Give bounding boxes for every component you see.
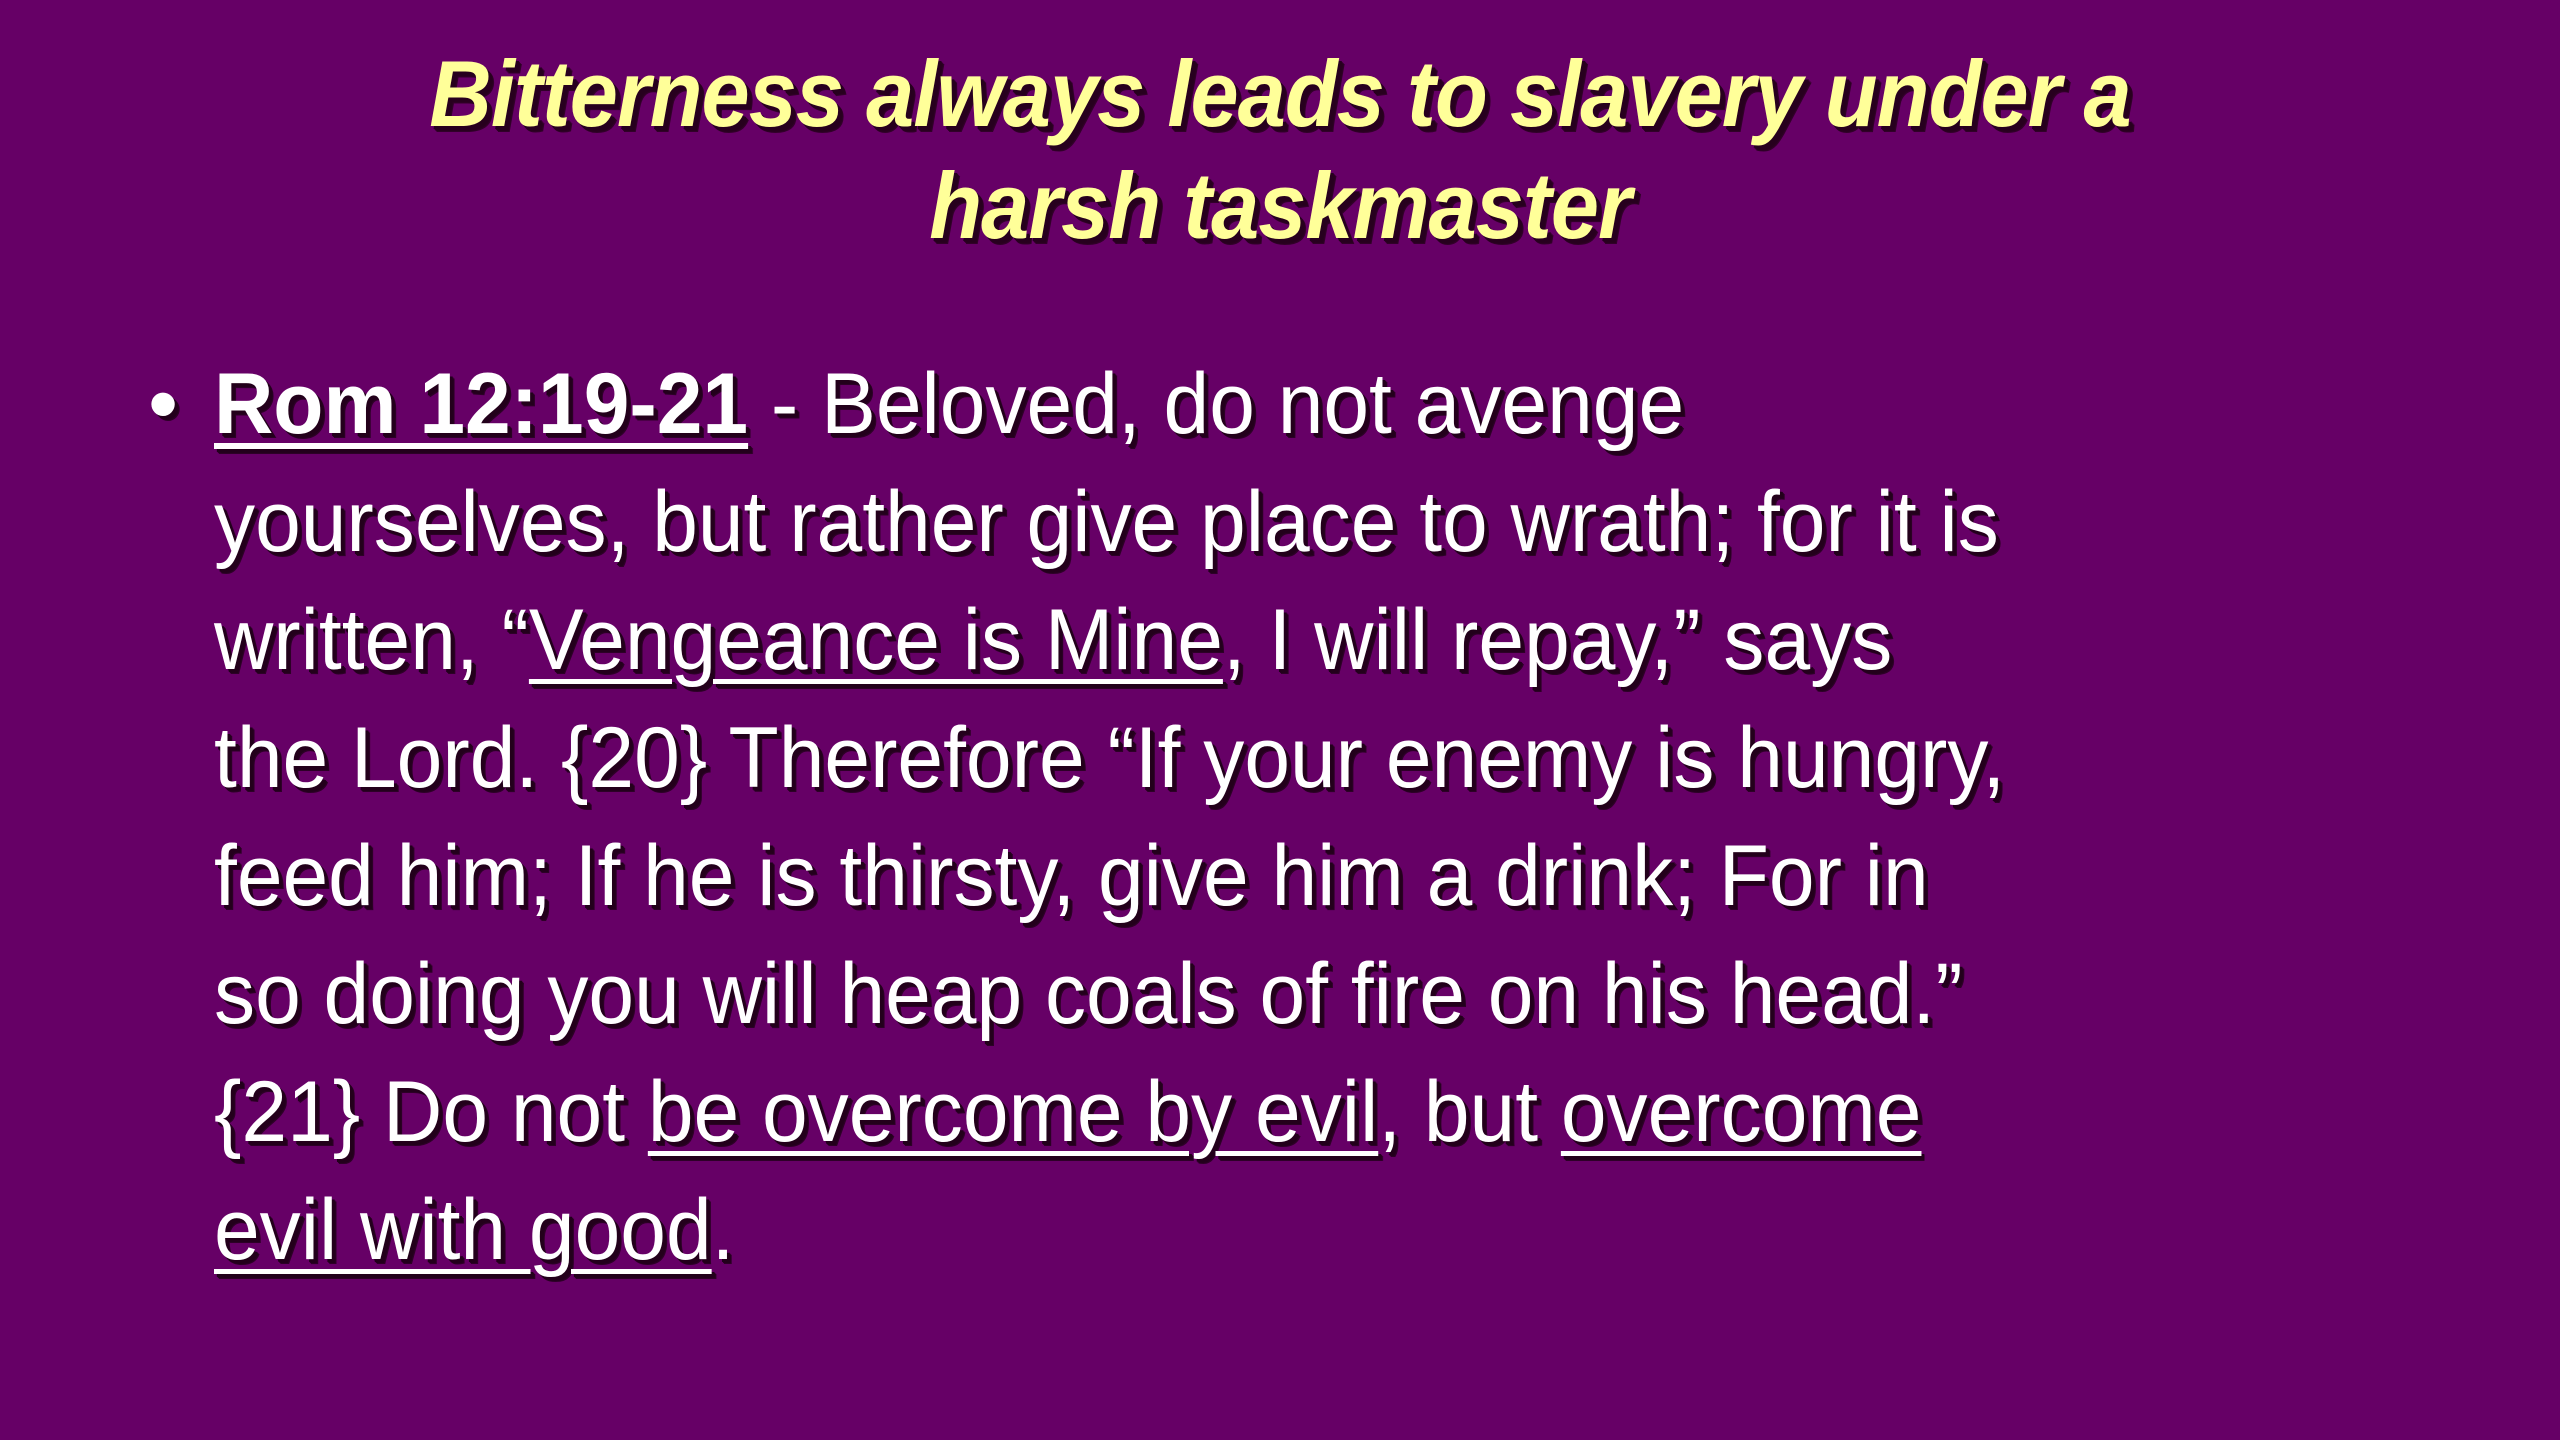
slide-title: Bitterness always leads to slavery under… bbox=[150, 38, 2410, 262]
body-line-7: {21} Do not be overcome by evil, but ove… bbox=[214, 1053, 2361, 1171]
body-line-2: yourselves, but rather give place to wra… bbox=[214, 463, 2361, 581]
body-line-6: so doing you will heap coals of fire on … bbox=[214, 935, 2361, 1053]
emphasis-overcome-part2: evil with good bbox=[214, 1182, 712, 1278]
body-line-8-period: . bbox=[712, 1182, 735, 1278]
emphasis-be-overcome-by-evil: be overcome by evil bbox=[648, 1064, 1378, 1160]
body-line-4: the Lord. {20} Therefore “If your enemy … bbox=[214, 699, 2361, 817]
emphasis-overcome-part1: overcome bbox=[1561, 1064, 1922, 1160]
body-line-7-mid: , but bbox=[1378, 1064, 1561, 1160]
bullet-list-item: • Rom 12:19-21 - Beloved, do not avenge … bbox=[132, 345, 2462, 1289]
presentation-slide: Bitterness always leads to slavery under… bbox=[0, 0, 2560, 1440]
bullet-point-icon: • bbox=[132, 345, 214, 463]
body-line-3-post: , I will repay,” says bbox=[1223, 592, 1892, 688]
body-line-3-pre: written, “ bbox=[214, 592, 529, 688]
scripture-reference: Rom 12:19-21 bbox=[214, 356, 748, 452]
scripture-passage-text: Rom 12:19-21 - Beloved, do not avenge yo… bbox=[214, 345, 2462, 1289]
emphasis-vengeance-is-mine: Vengeance is Mine bbox=[529, 592, 1223, 688]
body-line-3: written, “Vengeance is Mine, I will repa… bbox=[214, 581, 2361, 699]
title-line-2: harsh taskmaster bbox=[240, 150, 2319, 262]
body-line-5: feed him; If he is thirsty, give him a d… bbox=[214, 817, 2361, 935]
body-line-8: evil with good. bbox=[214, 1171, 2361, 1289]
body-line-1: Rom 12:19-21 - Beloved, do not avenge bbox=[214, 345, 2361, 463]
slide-body: • Rom 12:19-21 - Beloved, do not avenge … bbox=[132, 345, 2462, 1289]
body-line-1-rest: - Beloved, do not avenge bbox=[748, 356, 1684, 452]
title-line-1: Bitterness always leads to slavery under… bbox=[240, 38, 2319, 150]
body-line-7-pre: {21} Do not bbox=[214, 1064, 648, 1160]
